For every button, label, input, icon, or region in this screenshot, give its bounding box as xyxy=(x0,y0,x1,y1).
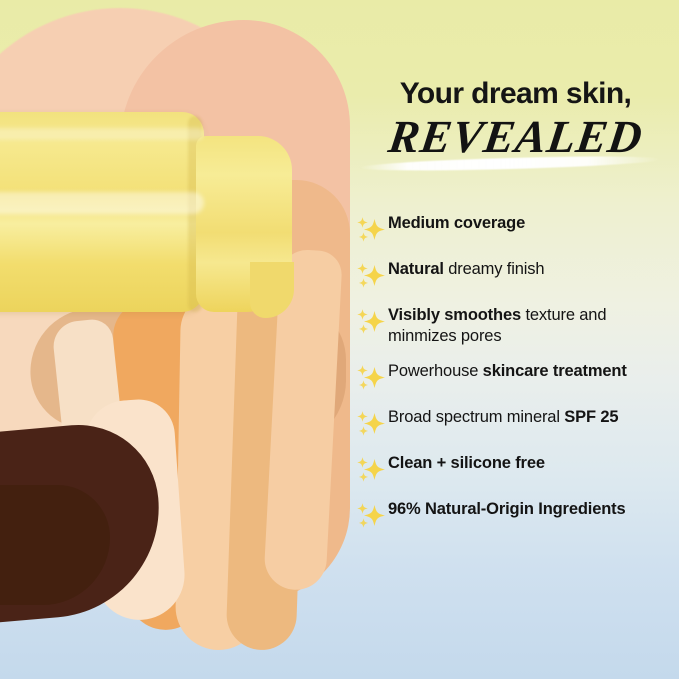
sparkle-icon xyxy=(354,215,388,245)
feature-text: Natural dreamy finish xyxy=(388,258,544,280)
product-tube-highlight xyxy=(0,192,204,214)
headline-line-2-wrap: REVEALED xyxy=(352,112,679,168)
feature-item: Clean + silicone free xyxy=(354,452,679,485)
sparkle-icon xyxy=(354,363,388,393)
headline-line-2: REVEALED xyxy=(385,112,646,163)
sparkle-icon xyxy=(354,409,388,439)
feature-text: Powerhouse skincare treatment xyxy=(388,360,627,382)
feature-text-bold-tail: SPF 25 xyxy=(564,408,618,426)
feature-item: Medium coverage xyxy=(354,212,679,245)
feature-text-bold: Clean + silicone free xyxy=(388,454,545,472)
feature-text-bold: 96% Natural-Origin Ingredients xyxy=(388,500,626,518)
feature-text-bold: Medium coverage xyxy=(388,214,525,232)
feature-text-regular: Powerhouse xyxy=(388,362,483,380)
feature-text: Medium coverage xyxy=(388,212,525,234)
feature-item: Natural dreamy finish xyxy=(354,258,679,291)
feature-text-bold: Visibly smoothes xyxy=(388,306,521,324)
feature-text-regular: dreamy finish xyxy=(444,260,545,278)
sparkle-icon xyxy=(354,363,388,393)
feature-text-bold-tail: skincare treatment xyxy=(483,362,627,380)
sparkle-icon xyxy=(354,307,388,337)
feature-item: Powerhouse skincare treatment xyxy=(354,360,679,393)
feature-list: Medium coverage Natural dreamy finish Vi… xyxy=(354,212,679,544)
feature-text: 96% Natural-Origin Ingredients xyxy=(388,498,626,520)
headline-line-1: Your dream skin, xyxy=(352,78,679,110)
content-column: Your dream skin, REVEALED Medium coverag… xyxy=(352,0,679,679)
sparkle-icon xyxy=(354,261,388,291)
sparkle-icon xyxy=(354,501,388,531)
feature-text-bold: Natural xyxy=(388,260,444,278)
sparkle-icon xyxy=(354,215,388,245)
sparkle-icon xyxy=(354,261,388,291)
product-tube-highlight-2 xyxy=(0,128,204,140)
feature-text: Visibly smoothes texture and minmizes po… xyxy=(388,304,679,347)
headline-block: Your dream skin, REVEALED xyxy=(352,78,679,168)
sparkle-icon xyxy=(354,455,388,485)
product-ad-poster: Your dream skin, REVEALED Medium coverag… xyxy=(0,0,679,679)
sparkle-icon xyxy=(354,307,388,337)
feature-item: Broad spectrum mineral SPF 25 xyxy=(354,406,679,439)
sparkle-icon xyxy=(354,501,388,531)
feature-item: 96% Natural-Origin Ingredients xyxy=(354,498,679,531)
sparkle-icon xyxy=(354,455,388,485)
feature-text-regular: Broad spectrum mineral xyxy=(388,408,564,426)
feature-item: Visibly smoothes texture and minmizes po… xyxy=(354,304,679,347)
product-artwork xyxy=(0,0,350,679)
feature-text: Clean + silicone free xyxy=(388,452,545,474)
sparkle-icon xyxy=(354,409,388,439)
feature-text: Broad spectrum mineral SPF 25 xyxy=(388,406,618,428)
